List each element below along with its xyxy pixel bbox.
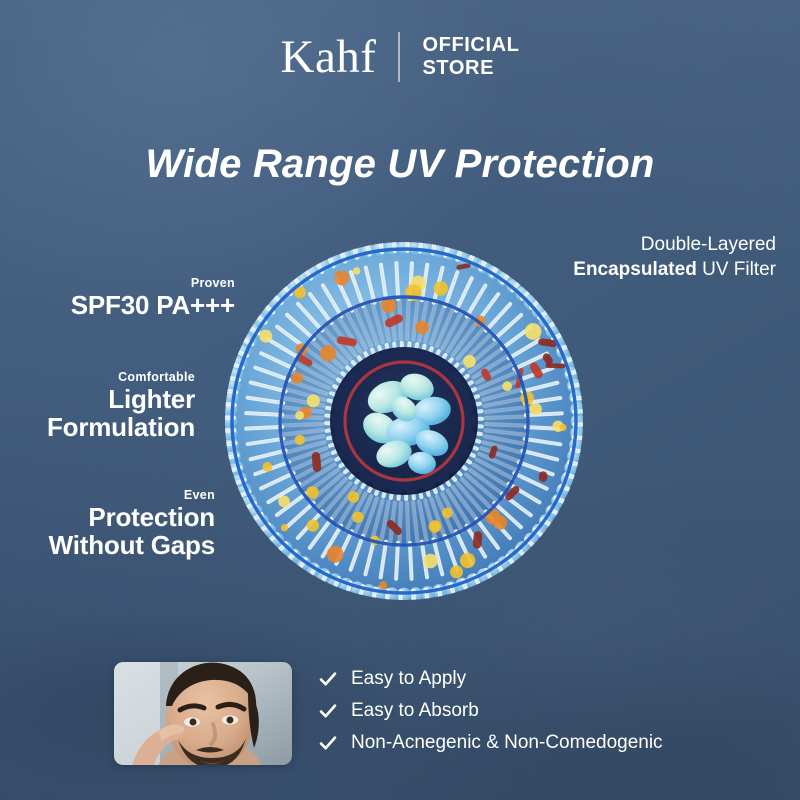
benefit-label: Non-Acnegenic & Non-Comedogenic xyxy=(351,732,663,754)
callout-spf: Proven SPF30 PA+++ xyxy=(0,276,235,320)
benefits-list: Easy to Apply Easy to Absorb Non-Acnegen… xyxy=(318,668,663,754)
list-item: Non-Acnegenic & Non-Comedogenic xyxy=(318,732,663,754)
benefit-label: Easy to Absorb xyxy=(351,700,479,722)
avatar xyxy=(114,662,292,765)
callout-uv-filter-line2: Encapsulated UV Filter xyxy=(573,257,776,282)
official-store-label: OFFICIAL STORE xyxy=(422,34,519,80)
callout-uv-filter-bold: Encapsulated xyxy=(573,259,697,280)
check-icon xyxy=(318,669,338,689)
list-item: Easy to Apply xyxy=(318,668,663,690)
official-store-line1: OFFICIAL xyxy=(422,34,519,57)
callout-even-title-line1: Protection xyxy=(0,504,215,532)
callout-spf-title: SPF30 PA+++ xyxy=(0,292,235,320)
brand-name: Kahf xyxy=(281,34,377,81)
page-title: Wide Range UV Protection xyxy=(0,142,800,187)
callout-even-eyebrow: Even xyxy=(0,488,215,502)
callout-lighter-title-line2: Formulation xyxy=(0,414,195,442)
callout-lighter-eyebrow: Comfortable xyxy=(0,370,195,384)
list-item: Easy to Absorb xyxy=(318,700,663,722)
callout-uv-filter: Double-Layered Encapsulated UV Filter xyxy=(573,232,776,282)
callout-even-title-line2: Without Gaps xyxy=(0,532,215,560)
encapsulated-uv-filter-liposome-diagram xyxy=(218,235,590,607)
callout-spf-eyebrow: Proven xyxy=(0,276,235,290)
callout-uv-filter-rest: UV Filter xyxy=(697,259,776,280)
logo-divider xyxy=(398,32,400,82)
callout-lighter-title-line1: Lighter xyxy=(0,386,195,414)
callout-even-protection: Even Protection Without Gaps xyxy=(0,488,215,559)
callout-lighter-formulation: Comfortable Lighter Formulation xyxy=(0,370,195,441)
callout-uv-filter-line1: Double-Layered xyxy=(573,232,776,257)
brand-logo: Kahf OFFICIAL STORE xyxy=(0,32,800,82)
official-store-line2: STORE xyxy=(422,57,519,80)
check-icon xyxy=(318,701,338,721)
check-icon xyxy=(318,733,338,753)
promo-poster: Kahf OFFICIAL STORE Wide Range UV Protec… xyxy=(0,0,800,800)
benefit-label: Easy to Apply xyxy=(351,668,466,690)
